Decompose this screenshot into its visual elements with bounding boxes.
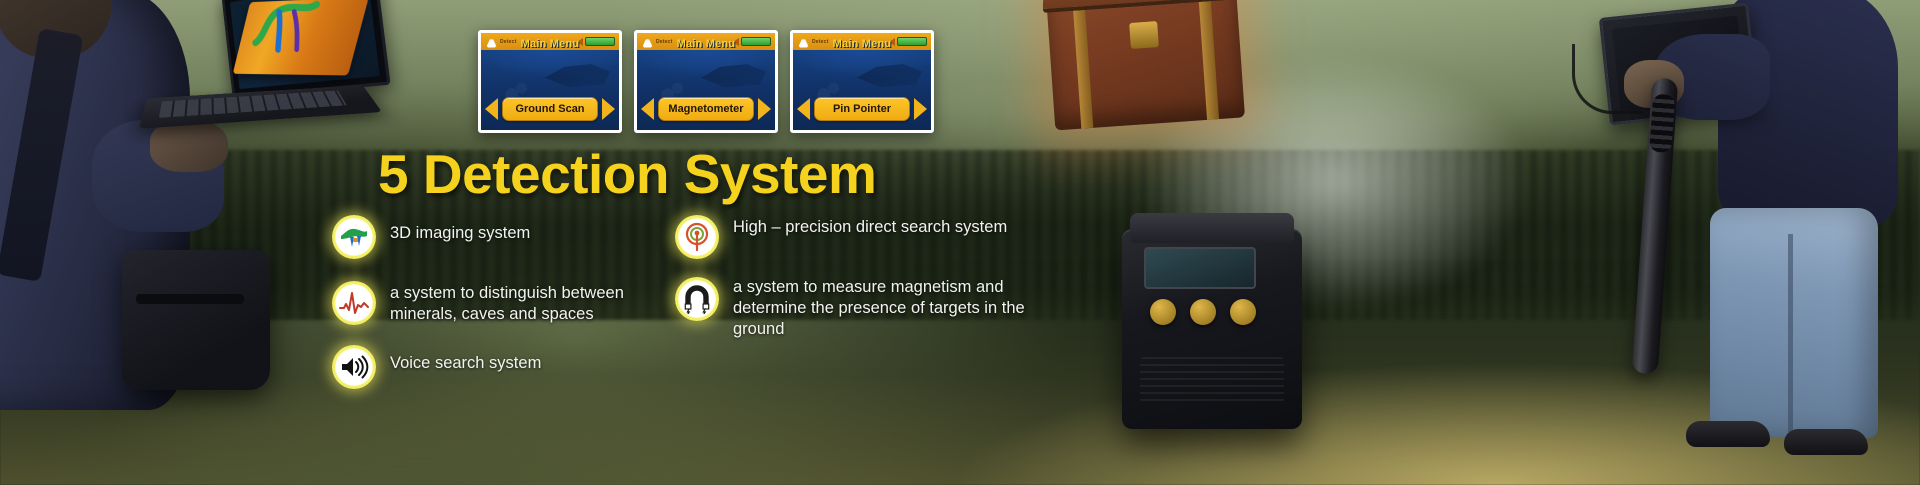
operator-bag xyxy=(122,250,270,390)
feature-item-voice-search: Voice search system xyxy=(332,345,662,389)
feature-item-magnetism: a system to measure magnetism and determ… xyxy=(675,277,1035,340)
device-menu-title: Main Menu xyxy=(793,38,931,50)
device-screen-pin-pointer[interactable]: Detect Main Menu Pin Pointer xyxy=(790,30,934,133)
operator-shoe xyxy=(1686,421,1770,447)
operator-with-pinpointer xyxy=(1500,0,1920,485)
scan-target-trace xyxy=(248,0,332,59)
detector-knob xyxy=(1150,299,1176,325)
device-mode-selector: Ground Scan xyxy=(485,97,615,121)
operator-shoe xyxy=(1784,429,1868,455)
laptop-base xyxy=(139,85,382,129)
chevron-left-icon[interactable] xyxy=(641,98,654,120)
feature-item-3d-imaging: 3D imaging system xyxy=(332,215,662,259)
feature-label: a system to distinguish between minerals… xyxy=(390,281,662,325)
main-detector-unit xyxy=(1122,229,1302,429)
detector-cable xyxy=(1572,44,1644,114)
detector-handle xyxy=(1130,213,1294,243)
feature-label: High – precision direct search system xyxy=(733,215,1007,238)
feature-label: Voice search system xyxy=(390,345,541,374)
device-mode-button[interactable]: Ground Scan xyxy=(502,97,598,121)
feature-label: 3D imaging system xyxy=(390,215,530,244)
device-mode-button[interactable]: Magnetometer xyxy=(658,97,754,121)
chevron-left-icon[interactable] xyxy=(797,98,810,120)
feature-column-right: High – precision direct search system a … xyxy=(675,215,1035,354)
signal-target-icon xyxy=(675,215,719,259)
device-mode-button[interactable]: Pin Pointer xyxy=(814,97,910,121)
device-menu-title: Main Menu xyxy=(637,38,775,50)
device-screens-group: Detect Main Menu Ground Scan Detect xyxy=(478,30,934,133)
chevron-left-icon[interactable] xyxy=(485,98,498,120)
feature-item-mineral-discrimination: a system to distinguish between minerals… xyxy=(332,281,662,325)
feature-item-high-precision: High – precision direct search system xyxy=(675,215,1035,259)
glowing-treasure-chest xyxy=(1045,0,1245,130)
feature-column-left: 3D imaging system a system to distinguis… xyxy=(332,215,662,403)
operator-with-laptop xyxy=(0,0,300,485)
feature-label: a system to measure magnetism and determ… xyxy=(733,277,1035,340)
device-mode-selector: Pin Pointer xyxy=(797,97,927,121)
detector-display xyxy=(1144,247,1256,289)
device-screen-magnetometer[interactable]: Detect Main Menu Magnetometer xyxy=(634,30,778,133)
detector-knob xyxy=(1230,299,1256,325)
laptop xyxy=(146,0,386,152)
chevron-right-icon[interactable] xyxy=(758,98,771,120)
detector-knob xyxy=(1190,299,1216,325)
device-screen-ground-scan[interactable]: Detect Main Menu Ground Scan xyxy=(478,30,622,133)
page-title: 5 Detection System xyxy=(378,142,876,206)
waveform-pulse-icon xyxy=(332,281,376,325)
laptop-keyboard xyxy=(159,90,347,117)
detector-grille xyxy=(1140,357,1284,403)
chevron-right-icon[interactable] xyxy=(914,98,927,120)
magnet-icon xyxy=(675,277,719,321)
chevron-right-icon[interactable] xyxy=(602,98,615,120)
device-menu-title: Main Menu xyxy=(481,38,619,50)
speaker-sound-icon xyxy=(332,345,376,389)
laptop-screen xyxy=(221,0,390,98)
device-mode-selector: Magnetometer xyxy=(641,97,771,121)
3d-terrain-icon xyxy=(332,215,376,259)
operator-jeans xyxy=(1710,208,1878,438)
chest-lock-icon xyxy=(1129,21,1159,49)
detection-system-banner: Detect Main Menu Ground Scan Detect xyxy=(0,0,1920,485)
